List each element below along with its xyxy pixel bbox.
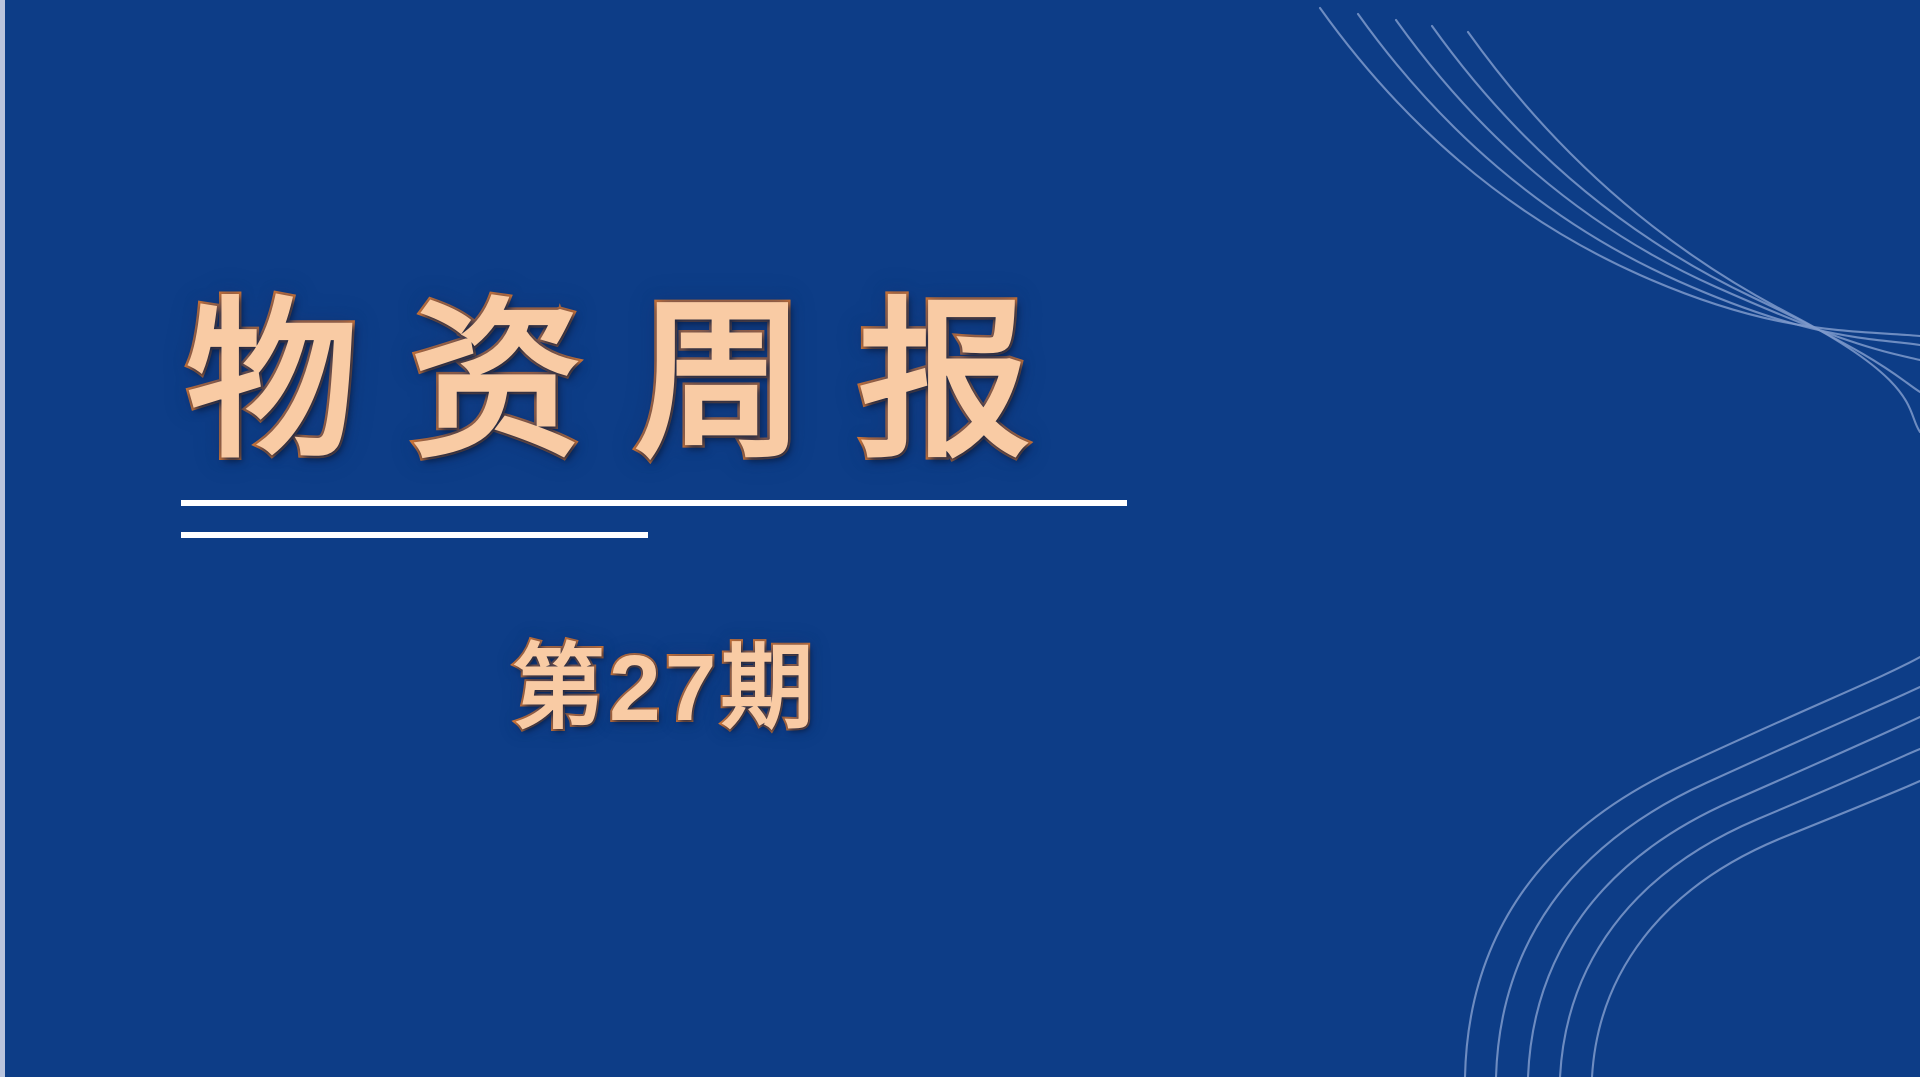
page-title: 物资周报	[186, 296, 1082, 468]
left-edge-strip	[0, 0, 5, 1077]
issue-number-subtitle: 第27期	[512, 642, 817, 735]
title-underline-short	[181, 532, 648, 538]
title-underline-long	[181, 500, 1127, 506]
cover-text-block: 物资周报 第27期	[0, 0, 1920, 1077]
cover-slide: 物资周报 第27期	[0, 0, 1920, 1077]
